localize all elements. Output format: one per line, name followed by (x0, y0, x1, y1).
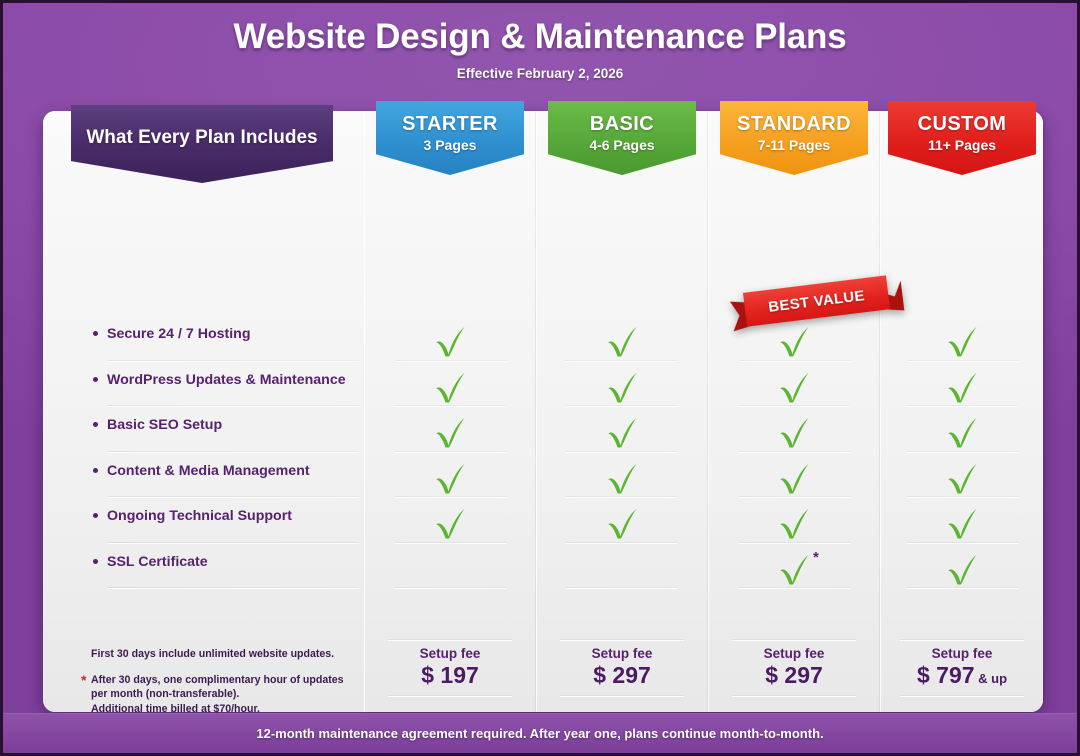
includes-ribbon-label: What Every Plan Includes (71, 105, 333, 149)
check-icon (605, 371, 639, 403)
feature-row: Ongoing Technical Support (91, 507, 359, 553)
check-cell (888, 371, 1036, 417)
check-icon-svg (433, 462, 467, 494)
row-separator (738, 451, 850, 453)
page-title: Website Design & Maintenance Plans (3, 17, 1077, 57)
setup-fee-amount: $ 297 (720, 662, 868, 689)
bottom-note-text: 12-month maintenance agreement required.… (256, 726, 823, 741)
feature-label: Ongoing Technical Support (91, 508, 292, 524)
row-separator (738, 496, 850, 498)
check-cell (376, 325, 524, 371)
plan-pages-starter: 3 Pages (376, 137, 524, 153)
feature-label: Basic SEO Setup (91, 417, 222, 433)
row-separator (738, 587, 850, 589)
bottom-note-bar: 12-month maintenance agreement required.… (3, 713, 1077, 753)
bullet-icon (93, 331, 98, 336)
row-separator (906, 587, 1018, 589)
setup-fee-currency: $ (593, 662, 606, 688)
check-icon-svg (605, 371, 639, 403)
footnote-line: First 30 days include unlimited website … (91, 647, 381, 662)
setup-fee-label: Setup fee (888, 646, 1036, 661)
feature-label: Secure 24 / 7 Hosting (91, 326, 251, 342)
row-separator (906, 405, 1018, 407)
bullet-icon (93, 559, 98, 564)
check-icon-svg (433, 507, 467, 539)
row-separator (394, 405, 506, 407)
plan-pages-standard: 7-11 Pages (720, 137, 868, 153)
check-column-basic (548, 325, 696, 598)
check-cell (720, 416, 868, 462)
setup-fee-value: 297 (784, 662, 822, 688)
check-cell (376, 553, 524, 599)
row-separator (906, 496, 1018, 498)
plan-pages-custom: 11+ Pages (888, 137, 1036, 153)
row-separator (566, 496, 678, 498)
bullet-icon (93, 377, 98, 382)
check-icon (945, 325, 979, 357)
setup-fee-suffix: & up (975, 671, 1008, 686)
row-separator (107, 405, 359, 407)
check-icon (433, 325, 467, 357)
row-separator (566, 451, 678, 453)
row-separator (394, 451, 506, 453)
check-cell (376, 416, 524, 462)
row-separator (906, 542, 1018, 544)
check-cell (888, 325, 1036, 371)
check-icon-svg (777, 325, 811, 357)
check-icon-svg (433, 325, 467, 357)
check-cell: * (720, 553, 868, 599)
row-separator (566, 542, 678, 544)
pricing-card-inner: What Every Plan Includes STARTER 3 Pages… (43, 111, 1043, 712)
feature-label: WordPress Updates & Maintenance (91, 372, 346, 388)
check-cell (548, 325, 696, 371)
feature-row: Secure 24 / 7 Hosting (91, 325, 359, 371)
check-icon (433, 507, 467, 539)
setup-fee-currency: $ (765, 662, 778, 688)
check-cell (720, 325, 868, 371)
check-icon-svg (605, 507, 639, 539)
check-icon (777, 507, 811, 539)
check-column-custom (888, 325, 1036, 598)
feature-row: Content & Media Management (91, 462, 359, 508)
row-separator (738, 360, 850, 362)
plan-pages-basic: 4-6 Pages (548, 137, 696, 153)
bullet-icon (93, 468, 98, 473)
feature-list: Secure 24 / 7 HostingWordPress Updates &… (91, 325, 359, 598)
setup-fee-block: Setup fee$ 297 (548, 639, 696, 697)
check-column-standard: * (720, 325, 868, 598)
plan-name-custom: CUSTOM (888, 101, 1036, 136)
row-separator (738, 405, 850, 407)
check-icon (777, 371, 811, 403)
feature-row: Basic SEO Setup (91, 416, 359, 462)
row-separator (732, 639, 856, 641)
check-icon (605, 416, 639, 448)
check-cell (548, 462, 696, 508)
check-column-starter (376, 325, 524, 598)
setup-fee-value: 197 (440, 662, 478, 688)
setup-fee-block: Setup fee$ 797 & up (888, 639, 1036, 697)
footnote-marker-icon: * (813, 550, 819, 565)
row-separator (394, 360, 506, 362)
setup-fee-value: 297 (612, 662, 650, 688)
check-icon (433, 462, 467, 494)
check-icon (945, 553, 979, 585)
footnote-line: per month (non-transferable). (91, 687, 381, 702)
check-icon-svg (605, 462, 639, 494)
check-icon (777, 416, 811, 448)
check-icon-svg (777, 553, 811, 585)
check-icon-svg (605, 325, 639, 357)
check-icon-svg (945, 507, 979, 539)
setup-fee-value: 797 (936, 662, 974, 688)
feature-row: SSL Certificate (91, 553, 359, 599)
check-icon-svg (777, 507, 811, 539)
setup-fee-label: Setup fee (720, 646, 868, 661)
row-separator (900, 639, 1024, 641)
footnote-block-hours: After 30 days, one complimentary hour of… (91, 673, 381, 717)
check-cell (548, 553, 696, 599)
footnote-asterisk: * (81, 673, 86, 687)
setup-fee-block: Setup fee$ 197 (376, 639, 524, 697)
row-separator (107, 360, 359, 362)
check-icon: * (777, 553, 811, 585)
setup-fee-currency: $ (917, 662, 930, 688)
row-separator (388, 639, 512, 641)
check-icon (605, 507, 639, 539)
page-subtitle: Effective February 2, 2026 (3, 66, 1077, 81)
bullet-icon (93, 513, 98, 518)
check-cell (888, 507, 1036, 553)
setup-fee-amount: $ 297 (548, 662, 696, 689)
check-cell (720, 371, 868, 417)
check-cell (720, 462, 868, 508)
check-cell (548, 371, 696, 417)
setup-fee-amount: $ 197 (376, 662, 524, 689)
check-cell (376, 507, 524, 553)
check-cell (888, 462, 1036, 508)
check-icon-svg (945, 325, 979, 357)
row-separator (107, 587, 359, 589)
title-area: Website Design & Maintenance Plans Effec… (3, 17, 1077, 81)
row-separator (566, 405, 678, 407)
check-icon (777, 325, 811, 357)
row-separator (394, 542, 506, 544)
check-cell (888, 416, 1036, 462)
setup-fee-label: Setup fee (548, 646, 696, 661)
check-icon (605, 462, 639, 494)
plan-name-standard: STANDARD (720, 101, 868, 136)
check-icon (945, 416, 979, 448)
row-separator (560, 639, 684, 641)
footnote-line: After 30 days, one complimentary hour of… (91, 673, 381, 688)
bullet-icon (93, 422, 98, 427)
check-icon (433, 416, 467, 448)
check-icon (945, 462, 979, 494)
check-icon (777, 462, 811, 494)
row-separator (107, 542, 359, 544)
row-separator (566, 587, 678, 589)
check-icon (433, 371, 467, 403)
check-icon-svg (945, 371, 979, 403)
setup-fee-block: Setup fee$ 297 (720, 639, 868, 697)
check-cell (548, 416, 696, 462)
check-icon-svg (433, 371, 467, 403)
check-icon-svg (777, 462, 811, 494)
check-cell (376, 462, 524, 508)
row-separator (566, 360, 678, 362)
check-icon-svg (945, 553, 979, 585)
pricing-card: What Every Plan Includes STARTER 3 Pages… (43, 111, 1043, 712)
feature-row: WordPress Updates & Maintenance (91, 371, 359, 417)
row-separator (394, 496, 506, 498)
plan-name-starter: STARTER (376, 101, 524, 136)
row-separator (107, 451, 359, 453)
check-cell (888, 553, 1036, 599)
check-icon (945, 507, 979, 539)
setup-fee-label: Setup fee (376, 646, 524, 661)
footnote-block-updates: First 30 days include unlimited website … (91, 647, 381, 662)
check-icon-svg (777, 416, 811, 448)
setup-fee-amount: $ 797 & up (888, 662, 1036, 689)
check-icon-svg (605, 416, 639, 448)
check-icon-svg (945, 416, 979, 448)
check-icon-svg (945, 462, 979, 494)
best-value-label: BEST VALUE (767, 287, 865, 316)
plan-name-basic: BASIC (548, 101, 696, 136)
check-icon (945, 371, 979, 403)
check-icon-svg (433, 416, 467, 448)
check-icon-svg (777, 371, 811, 403)
feature-label: SSL Certificate (91, 554, 208, 570)
row-separator (394, 587, 506, 589)
row-separator (107, 496, 359, 498)
feature-label: Content & Media Management (91, 463, 310, 479)
row-separator (738, 542, 850, 544)
row-separator (906, 360, 1018, 362)
check-cell (548, 507, 696, 553)
check-cell (376, 371, 524, 417)
check-icon (605, 325, 639, 357)
pricing-table-page: Website Design & Maintenance Plans Effec… (0, 0, 1080, 756)
check-cell (720, 507, 868, 553)
row-separator (906, 451, 1018, 453)
setup-fee-currency: $ (421, 662, 434, 688)
